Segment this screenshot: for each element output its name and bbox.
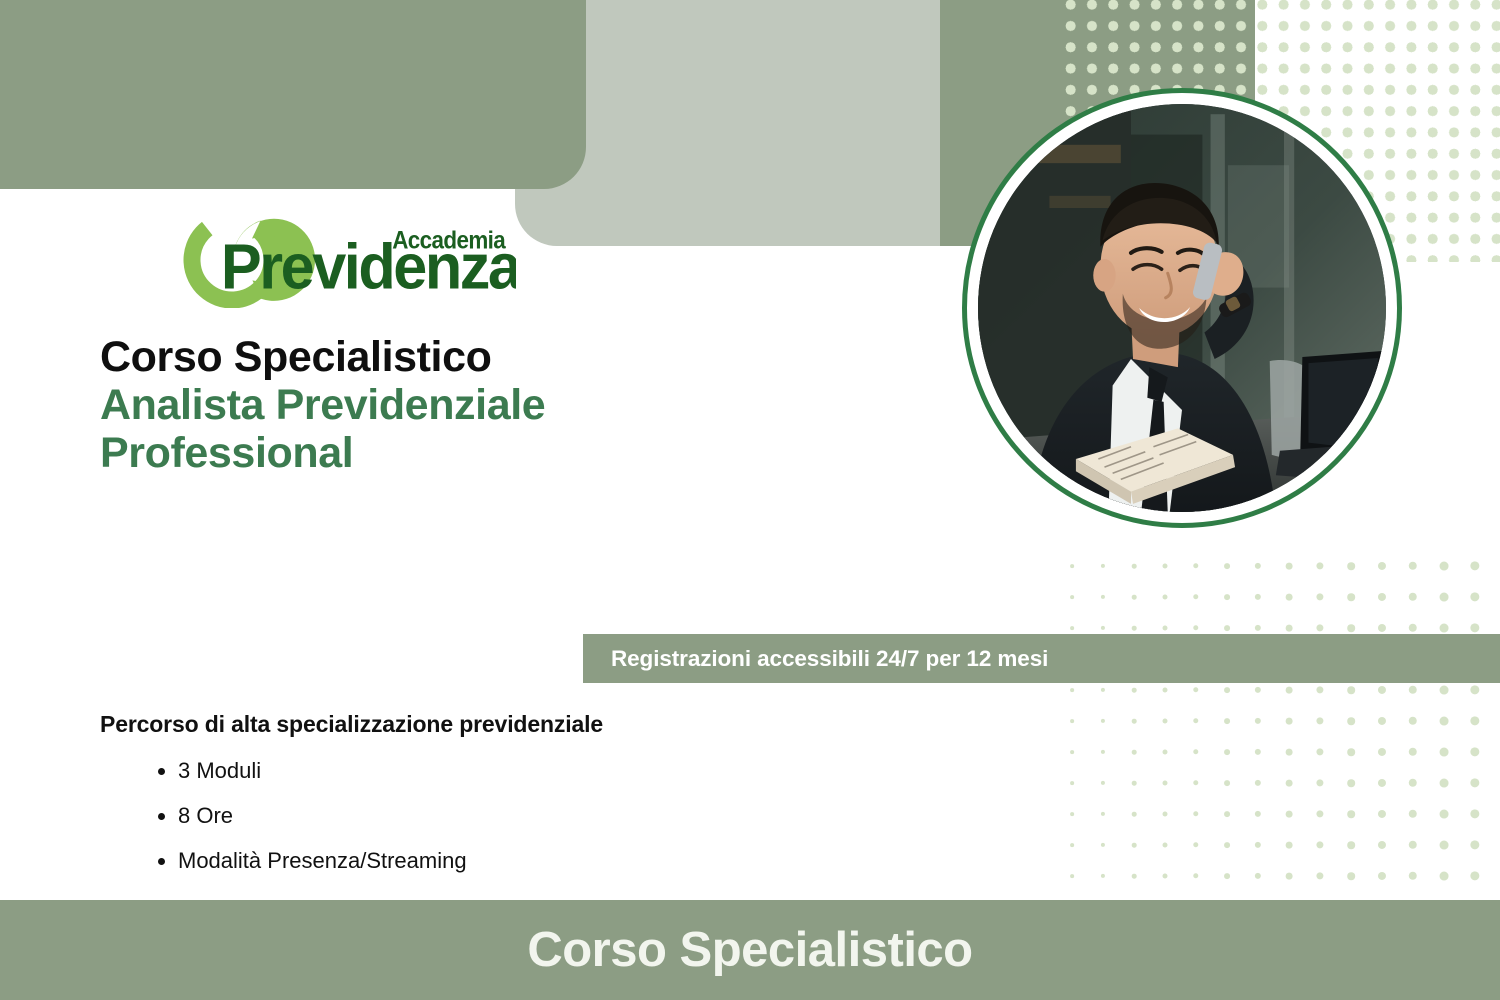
dot-icon [1316,748,1323,755]
page-title-line-2: Analista Previdenziale [100,381,820,429]
dot-icon [1101,843,1105,847]
dot-icon [1070,688,1074,692]
dot-icon [1132,750,1137,755]
dot-icon [1162,594,1167,599]
dot-icon [1101,595,1105,599]
dot-icon [1378,748,1386,756]
dot-icon [1286,780,1293,787]
dot-icon [1378,872,1386,880]
dot-icon [1440,841,1449,850]
dot-icon [1470,592,1479,601]
dot-icon [1224,842,1230,848]
dot-icon [1255,594,1261,600]
dot-icon [1132,564,1137,569]
dot-icon [1409,717,1417,725]
dot-icon [1224,625,1230,631]
dot-icon [1193,563,1198,568]
dot-icon [1070,626,1074,630]
dot-icon [1255,687,1261,693]
dot-icon [1255,811,1261,817]
dot-icon [1101,874,1105,878]
hero-photo-image [978,104,1386,512]
course-feature-item: Modalità Presenza/Streaming [178,850,860,872]
dot-icon [1162,718,1167,723]
dot-icon [1378,686,1386,694]
dot-icon [1440,810,1449,819]
dot-icon [1470,623,1479,632]
dot-icon [1470,747,1479,756]
dot-icon [1347,872,1355,880]
dot-icon [1286,563,1293,570]
dot-icon [1162,780,1167,785]
dot-icon [1347,686,1355,694]
dot-icon [1440,748,1449,757]
dot-icon [1378,593,1386,601]
dot-icon [1070,595,1074,599]
dot-icon [1286,625,1293,632]
dot-icon [1316,624,1323,631]
dot-icon [1070,812,1074,816]
dot-icon [1224,749,1230,755]
dot-icon [1440,686,1449,695]
dot-icon [1409,872,1417,880]
dot-icon [1101,688,1105,692]
dot-icon [1347,779,1355,787]
dot-icon [1070,719,1074,723]
dot-icon [1255,563,1261,569]
course-features-list: 3 Moduli8 OreModalità Presenza/Streaming [178,760,860,872]
course-details-block: Percorso di alta specializzazione previd… [100,711,860,895]
dot-icon [1070,781,1074,785]
dot-icon [1440,779,1449,788]
dot-icon [1316,562,1323,569]
dot-icon [1347,841,1355,849]
dot-icon [1224,594,1230,600]
dot-icon [1132,874,1137,879]
dot-icon [1409,810,1417,818]
poster-canvas: Previdenza Accademia Corso Specialistico… [0,0,1500,1000]
footer-bar: Corso Specialistico [0,900,1500,1000]
course-feature-item: 8 Ore [178,805,860,827]
dot-icon [1440,593,1449,602]
dot-icon [1101,564,1105,568]
dot-icon [1316,872,1323,879]
decorative-block-sage-dark [0,0,586,189]
dot-icon [1347,624,1355,632]
dot-icon [1470,871,1479,880]
dot-icon [1378,810,1386,818]
hero-title-block: Corso Specialistico Analista Previdenzia… [100,333,820,477]
dot-icon [1162,563,1167,568]
page-title-line-1: Corso Specialistico [100,333,820,381]
dot-icon [1193,625,1198,630]
dot-icon [1101,626,1105,630]
availability-banner-text: Registrazioni accessibili 24/7 per 12 me… [583,646,1048,672]
dot-icon [1132,781,1137,786]
dot-icon [1193,811,1198,816]
dot-pattern-bottom-icon [1062,556,1500,936]
dot-icon [1378,624,1386,632]
dot-icon [1470,716,1479,725]
dot-icon [1378,717,1386,725]
footer-title: Corso Specialistico [527,922,972,978]
dot-icon [1193,594,1198,599]
dot-icon [1224,687,1230,693]
dot-icon [1440,872,1449,881]
dot-icon [1347,717,1355,725]
dot-icon [1224,563,1230,569]
dot-icon [1378,562,1386,570]
dot-icon [1162,749,1167,754]
dot-icon [1347,562,1355,570]
dot-icon [1101,750,1105,754]
dot-icon [1286,749,1293,756]
dot-icon [1409,779,1417,787]
dot-icon [1224,780,1230,786]
dot-icon [1193,780,1198,785]
dot-icon [1286,594,1293,601]
dot-icon [1132,595,1137,600]
dot-icon [1316,717,1323,724]
dot-icon [1470,685,1479,694]
dot-icon [1162,625,1167,630]
dot-icon [1286,687,1293,694]
dot-icon [1255,842,1261,848]
dot-icon [1101,719,1105,723]
dot-icon [1162,687,1167,692]
dot-icon [1101,812,1105,816]
page-title-line-3: Professional [100,429,820,477]
dot-icon [1193,749,1198,754]
dot-icon [1316,810,1323,817]
dot-icon [1286,811,1293,818]
dot-icon [1470,561,1479,570]
dot-icon [1132,688,1137,693]
dot-icon [1224,811,1230,817]
dot-icon [1409,748,1417,756]
dot-icon [1316,686,1323,693]
dot-icon [1132,719,1137,724]
dot-icon [1132,626,1137,631]
dot-icon [1193,842,1198,847]
dot-icon [1409,841,1417,849]
dot-icon [1316,779,1323,786]
dot-icon [1470,778,1479,787]
dot-icon [1440,624,1449,633]
hero-photo-circle [962,88,1402,528]
dot-icon [1132,812,1137,817]
dot-icon [1286,842,1293,849]
dot-icon [1255,749,1261,755]
dot-icon [1132,843,1137,848]
dot-icon [1070,564,1074,568]
dot-icon [1286,873,1293,880]
dot-icon [1409,593,1417,601]
dot-icon [1162,842,1167,847]
dot-icon [1286,718,1293,725]
dot-icon [1378,779,1386,787]
svg-text:Accademia: Accademia [392,226,506,253]
availability-banner: Registrazioni accessibili 24/7 per 12 me… [583,634,1500,683]
dot-icon [1255,780,1261,786]
dot-icon [1070,874,1074,878]
dot-icon [1070,750,1074,754]
dot-icon [1409,686,1417,694]
brand-logo: Previdenza Accademia [176,208,516,308]
dot-icon [1162,811,1167,816]
course-feature-item: 3 Moduli [178,760,860,782]
dot-icon [1070,843,1074,847]
dot-icon [1255,873,1261,879]
dot-icon [1193,873,1198,878]
dot-icon [1101,781,1105,785]
dot-icon [1193,718,1198,723]
dot-icon [1409,562,1417,570]
course-details-heading: Percorso di alta specializzazione previd… [100,711,860,738]
dot-icon [1440,562,1449,571]
dot-icon [1440,717,1449,726]
dot-icon [1347,593,1355,601]
dot-icon [1316,841,1323,848]
dot-icon [1470,840,1479,849]
dot-icon [1255,718,1261,724]
dot-icon [1193,687,1198,692]
dot-icon [1409,624,1417,632]
dot-icon [1224,718,1230,724]
dot-icon [1255,625,1261,631]
dot-icon [1470,809,1479,818]
dot-icon [1316,593,1323,600]
dot-icon [1347,810,1355,818]
dot-icon [1162,873,1167,878]
dot-icon [1378,841,1386,849]
dot-icon [1347,748,1355,756]
dot-icon [1224,873,1230,879]
